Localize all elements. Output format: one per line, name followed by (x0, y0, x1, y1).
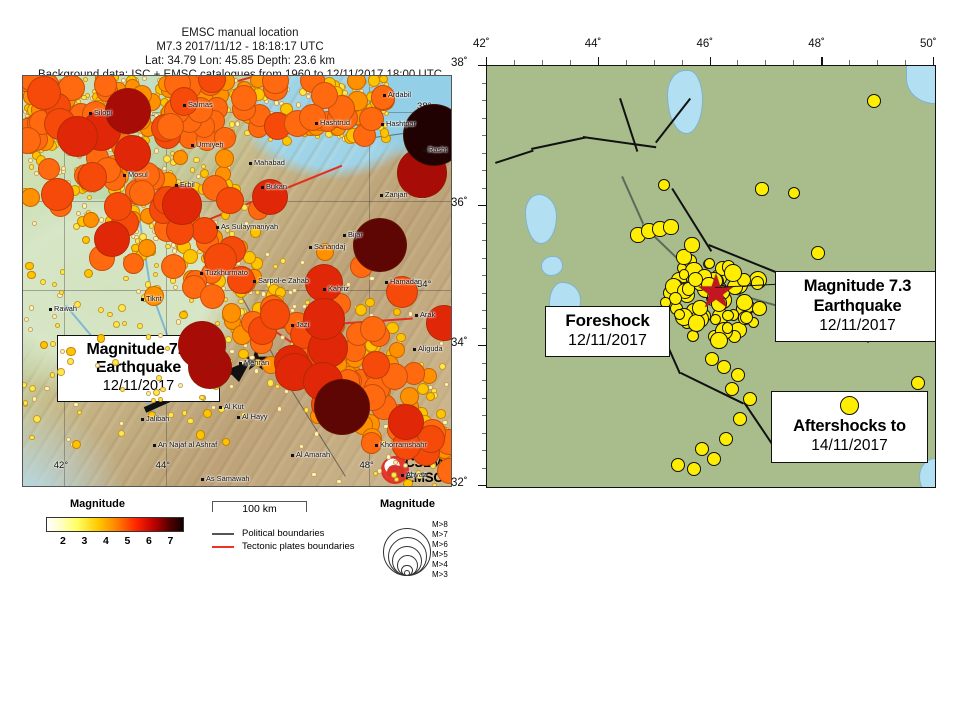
magnitude-size-label: M>8 (432, 520, 448, 529)
aftershock-epicenter (717, 360, 731, 374)
earthquake-epicenter (178, 321, 226, 369)
earthquake-epicenter (417, 383, 429, 395)
boundary-turkey-syria (495, 150, 534, 165)
tectonic-boundary-swatch (212, 546, 234, 548)
earthquake-epicenter (23, 400, 28, 405)
city-name: Arak (420, 310, 435, 319)
boundary-turkey-north (531, 136, 586, 150)
city-marker-icon (153, 444, 156, 447)
earthquake-epicenter (165, 244, 170, 249)
mainshock-callout: Magnitude 7.3 Earthquake 12/11/2017 (775, 271, 936, 342)
earthquake-epicenter (146, 334, 151, 339)
city-marker-icon (89, 112, 92, 115)
earthquake-epicenter (359, 107, 384, 132)
earthquake-epicenter (44, 386, 49, 391)
foreshock-callout-date: 12/11/2017 (549, 331, 666, 351)
city-name: Erbil (180, 180, 195, 189)
earthquake-epicenter (29, 435, 34, 440)
earthquake-epicenter (38, 158, 60, 180)
city-marker-icon (413, 348, 416, 351)
magnitude-tick-3: 3 (82, 535, 88, 547)
aftershock-epicenter (684, 237, 699, 252)
city-name: Al Hayy (242, 412, 267, 421)
city-name: Al Kut (224, 402, 244, 411)
city-name: Jalibah (146, 414, 169, 423)
city-marker-icon (239, 362, 242, 365)
earthquake-epicenter (60, 349, 65, 354)
earthquake-epicenter (40, 341, 48, 349)
city-marker-icon (237, 416, 240, 419)
city-marker-icon (201, 478, 204, 481)
map-legend: Magnitude 234567 100 km Political bounda… (22, 498, 462, 593)
earthquake-epicenter (361, 432, 382, 453)
earthquake-epicenter (347, 75, 365, 90)
aftershock-epicenter (867, 94, 882, 109)
caspian-sea-water (906, 65, 936, 104)
earthquake-epicenter (439, 363, 446, 370)
earthquake-epicenter (72, 440, 81, 449)
earthquake-epicenter (137, 323, 143, 329)
earthquake-epicenter (118, 304, 126, 312)
aftershock-epicenter (679, 269, 690, 280)
earthquake-epicenter (386, 454, 391, 459)
earthquake-epicenter (260, 299, 291, 330)
aftershock-epicenter (719, 432, 733, 446)
earthquake-epicenter (179, 311, 187, 319)
earthquake-epicenter (362, 351, 390, 379)
earthquake-epicenter (32, 396, 37, 401)
magnitude-colorbar (46, 517, 184, 532)
city-name: Rawah (54, 304, 77, 313)
earthquake-epicenter (67, 358, 74, 365)
latitude-tick-label: 34˚ (451, 337, 468, 349)
earthquake-epicenter (154, 148, 159, 153)
earthquake-epicenter (353, 218, 407, 272)
earthquake-epicenter (82, 236, 90, 244)
earthquake-epicenter (50, 372, 55, 377)
earthquake-epicenter (142, 76, 147, 81)
earthquake-epicenter (24, 317, 29, 322)
magnitude-size-title: Magnitude (380, 498, 435, 510)
earthquake-epicenter (29, 305, 34, 310)
city-name: Tikrit (146, 294, 162, 303)
earthquake-epicenter (165, 346, 170, 351)
city-name: An Najaf al Ashraf (158, 440, 217, 449)
earthquake-epicenter (267, 379, 275, 387)
longitude-tick-label: 46˚ (697, 38, 714, 50)
city-marker-icon (423, 149, 426, 152)
earthquake-epicenter (27, 271, 36, 280)
city-name: Sarpol-e Zahab (258, 276, 309, 285)
mainshock-callout-date: 12/11/2017 (779, 316, 936, 336)
city-name: Khorramshahr (380, 440, 427, 449)
earthquake-epicenter (66, 437, 71, 442)
header-line-1: EMSC manual location (20, 26, 460, 40)
magnitude-size-circle-Mgt3 (404, 570, 410, 576)
earthquake-epicenter (277, 406, 282, 411)
earthquake-epicenter (193, 157, 199, 163)
earthquake-epicenter (27, 76, 61, 110)
earthquake-epicenter (57, 368, 64, 375)
latitude-tick-label: 32˚ (451, 477, 468, 489)
city-name: Bijar (348, 230, 363, 239)
city-name: Bukan (266, 182, 287, 191)
magnitude-size-label: M>4 (432, 560, 448, 569)
aftershock-epicenter (725, 382, 739, 396)
lake-habbaniyah (541, 256, 563, 276)
political-boundary-label: Political boundaries (242, 528, 324, 539)
earthquake-epicenter (280, 335, 285, 340)
emsc-header: EMSC manual location M7.3 2017/11/12 - 1… (20, 26, 460, 82)
earthquake-epicenter (146, 391, 151, 396)
earthquake-epicenter (380, 128, 389, 137)
earthquake-epicenter (33, 415, 41, 423)
earthquake-epicenter (156, 375, 162, 381)
earthquake-epicenter (158, 333, 163, 338)
earthquake-epicenter (437, 458, 452, 483)
foreshock-callout-title: Foreshock (549, 311, 666, 331)
aftershock-epicenter (671, 458, 685, 472)
aftershock-epicenter (658, 179, 670, 191)
city-name: Silopi (94, 108, 112, 117)
aftershocks-callout: Aftershocks to 14/11/2017 (771, 391, 928, 463)
earthquake-epicenter (162, 185, 201, 224)
earthquake-epicenter (73, 402, 78, 407)
earthquake-epicenter (161, 254, 186, 279)
aftershock-epicenter (669, 292, 682, 305)
longitude-tick-label: 50˚ (920, 38, 937, 50)
aftershock-epicenter (755, 182, 768, 195)
earthquake-epicenter (28, 327, 33, 332)
city-name: Hamadan (390, 277, 422, 286)
city-name: Hashtpar (386, 119, 416, 128)
city-name: Hashtrud (320, 118, 350, 127)
earthquake-epicenter (274, 100, 279, 105)
earthquake-epicenter (369, 276, 374, 281)
aftershock-sequence-panel: 42˚44˚46˚48˚50˚ 32˚34˚36˚38˚ ★ ★ (465, 0, 960, 600)
earthquake-epicenter (225, 336, 232, 343)
city-marker-icon (315, 122, 318, 125)
aftershocks-callout-title: Aftershocks to (775, 416, 924, 436)
city-name: Mehran (244, 358, 269, 367)
earthquake-epicenter (199, 395, 204, 400)
magnitude-size-label: M>7 (432, 530, 448, 539)
magnitude-tick-2: 2 (60, 535, 66, 547)
earthquake-epicenter (355, 304, 367, 316)
city-name: Mosul (128, 170, 148, 179)
city-marker-icon (216, 226, 219, 229)
scale-bar-label: 100 km (212, 503, 307, 515)
earthquake-epicenter (229, 349, 234, 354)
aftershock-epicenter (911, 376, 926, 391)
earthquake-epicenter (211, 405, 216, 410)
city-marker-icon (175, 184, 178, 187)
earthquake-epicenter (304, 407, 309, 412)
earthquake-epicenter (280, 258, 286, 264)
city-marker-icon (253, 280, 256, 283)
earthquake-epicenter (403, 463, 408, 468)
earthquake-epicenter (215, 149, 234, 168)
earthquake-epicenter (25, 262, 34, 271)
aftershock-epicenter (710, 332, 727, 349)
city-name: Mahabad (254, 158, 285, 167)
earthquake-epicenter (153, 389, 160, 396)
magnitude-tick-7: 7 (168, 535, 174, 547)
city-marker-icon (141, 418, 144, 421)
city-name: Aliguda (418, 344, 443, 353)
earthquake-epicenter (229, 121, 235, 127)
longitude-tick-label: 48° (359, 460, 373, 471)
foreshock-callout: Foreshock 12/11/2017 (545, 306, 670, 357)
aftershock-epicenter (695, 442, 709, 456)
earthquake-epicenter (365, 298, 374, 307)
mainshock-callout-line-2: Earthquake (779, 296, 936, 316)
earthquake-epicenter (113, 321, 120, 328)
aftershock-epicenter (751, 276, 764, 289)
earthquake-epicenter (403, 479, 413, 487)
earthquake-epicenter (123, 253, 144, 274)
earthquake-epicenter (29, 164, 34, 169)
earthquake-epicenter (66, 347, 75, 356)
city-name: Jazi (296, 320, 309, 329)
city-marker-icon (383, 94, 386, 97)
earthquake-epicenter (84, 269, 93, 278)
tectonic-boundary-label: Tectonic plates boundaries (242, 541, 355, 552)
earthquake-epicenter (57, 116, 98, 157)
city-marker-icon (380, 194, 383, 197)
earthquake-epicenter (182, 410, 187, 415)
aftershock-epicenter (687, 330, 699, 342)
city-marker-icon (123, 174, 126, 177)
aftershock-epicenter (731, 368, 745, 382)
earthquake-epicenter (120, 387, 125, 392)
magnitude-size-label: M>5 (432, 550, 448, 559)
regional-seismicity-panel: EMSC manual location M7.3 2017/11/12 - 1… (0, 0, 465, 600)
earthquake-epicenter (231, 85, 257, 111)
earthquake-epicenter (153, 272, 158, 277)
latitude-tick-label: 38˚ (451, 57, 468, 69)
city-name: Ardabil (388, 90, 411, 99)
city-name: Kahriz (328, 284, 349, 293)
city-marker-icon (261, 186, 264, 189)
city-name: Rasht (428, 145, 447, 154)
city-marker-icon (191, 144, 194, 147)
earthquake-epicenter (138, 239, 156, 257)
latitude-tick-label: 36˚ (451, 197, 468, 209)
city-marker-icon (291, 454, 294, 457)
city-marker-icon (200, 272, 203, 275)
magnitude-size-label: M>3 (432, 570, 448, 579)
city-marker-icon (183, 104, 186, 107)
earthquake-epicenter (432, 483, 437, 487)
mainshock-star-icon: ★ (693, 271, 739, 317)
earthquake-epicenter (303, 298, 345, 340)
longitude-tick-label: 42° (54, 460, 68, 471)
earthquake-epicenter (52, 314, 57, 319)
earthquake-epicenter (78, 162, 108, 192)
aftershock-epicenter (743, 392, 757, 406)
boundary-iraq-kuwait (743, 402, 773, 445)
earthquake-epicenter (314, 431, 319, 436)
aftershock-sequence-map[interactable]: ★ ★ Foreshock 12/11/2017 Magnitude 7.3 E… (486, 65, 936, 488)
city-marker-icon (141, 298, 144, 301)
regional-seismicity-map[interactable]: SilopiSalmasArdabilHashtparRashtUrmiyehH… (22, 75, 452, 487)
earthquake-epicenter (123, 276, 128, 281)
city-marker-icon (219, 406, 222, 409)
aftershock-epicenter (752, 301, 767, 316)
earthquake-epicenter (336, 479, 341, 484)
magnitude-tick-6: 6 (146, 535, 152, 547)
aftershock-epicenter (687, 462, 701, 476)
earthquake-epicenter (436, 409, 446, 419)
city-marker-icon (375, 444, 378, 447)
magnitude-tick-5: 5 (125, 535, 131, 547)
city-marker-icon (49, 308, 52, 311)
earthquake-epicenter (163, 155, 171, 163)
city-marker-icon (415, 314, 418, 317)
city-name: Tuzkhurmato (205, 268, 248, 277)
earthquake-epicenter (183, 249, 197, 263)
aftershock-symbol-icon (840, 396, 859, 415)
earthquake-epicenter (222, 303, 242, 323)
earthquake-epicenter (104, 192, 133, 221)
earthquake-epicenter (32, 221, 37, 226)
aftershock-epicenter (811, 246, 825, 260)
city-marker-icon (309, 246, 312, 249)
city-marker-icon (249, 162, 252, 165)
city-marker-icon (401, 474, 404, 477)
aftershock-epicenter (733, 412, 747, 426)
header-line-2: M7.3 2017/11/12 - 18:18:17 UTC (20, 40, 460, 54)
earthquake-epicenter (22, 188, 40, 207)
earthquake-epicenter (60, 269, 65, 274)
city-marker-icon (381, 123, 384, 126)
city-name: Urmiyeh (196, 140, 224, 149)
earthquake-epicenter (296, 102, 301, 107)
mainshock-callout-line-1: Magnitude 7.3 (779, 276, 936, 296)
earthquake-epicenter (187, 418, 193, 424)
aftershock-epicenter (674, 309, 685, 320)
earthquake-epicenter (176, 319, 181, 324)
city-name: As Sulaymaniyah (221, 222, 278, 231)
earthquake-epicenter (391, 472, 396, 477)
city-name: Zanjan (385, 190, 408, 199)
earthquake-epicenter (50, 341, 56, 347)
city-name: Ahvaz (406, 470, 427, 479)
city-name: Sanandaj (314, 242, 345, 251)
longitude-tick-label: 48˚ (808, 38, 825, 50)
longitude-tick-label: 44° (156, 460, 170, 471)
earthquake-epicenter (235, 121, 240, 126)
euphrates-river (622, 176, 645, 224)
earthquake-epicenter (360, 316, 386, 342)
city-marker-icon (343, 234, 346, 237)
lake-razazah (525, 194, 557, 244)
magnitude-colorbar-title: Magnitude (70, 498, 125, 510)
city-marker-icon (385, 281, 388, 284)
header-line-3: Lat: 34.79 Lon: 45.85 Depth: 23.6 km (20, 54, 460, 68)
aftershock-epicenter (663, 219, 678, 234)
longitude-tick-label: 42˚ (473, 38, 490, 50)
magnitude-size-label: M>6 (432, 540, 448, 549)
city-name: Al Amarah (296, 450, 330, 459)
earthquake-epicenter (190, 167, 195, 172)
longitude-tick-label: 44˚ (585, 38, 602, 50)
city-name: Salmas (188, 100, 213, 109)
aftershock-epicenter (788, 187, 801, 200)
boundary-turkey-iraq (583, 136, 657, 149)
city-name: As Samawah (206, 474, 250, 483)
city-marker-icon (323, 288, 326, 291)
magnitude-tick-4: 4 (103, 535, 109, 547)
aftershock-epicenter (707, 452, 721, 466)
aftershocks-callout-date: 14/11/2017 (775, 436, 924, 456)
earthquake-epicenter (388, 404, 424, 440)
earthquake-epicenter (196, 430, 205, 439)
earthquake-epicenter (305, 264, 343, 302)
earthquake-epicenter (154, 263, 159, 268)
earthquake-epicenter (203, 409, 212, 418)
earthquake-epicenter (99, 217, 104, 222)
earthquake-epicenter (314, 379, 370, 435)
city-marker-icon (291, 324, 294, 327)
political-boundary-swatch (212, 533, 234, 535)
